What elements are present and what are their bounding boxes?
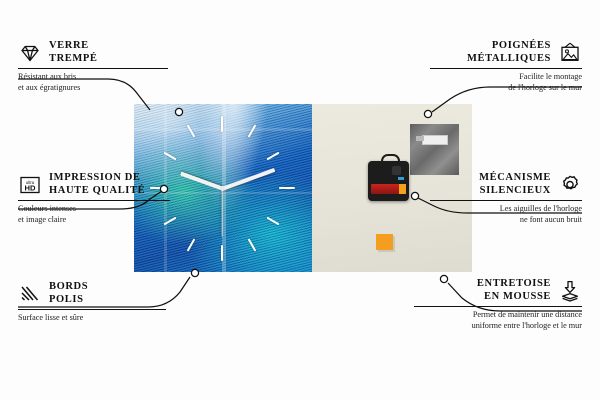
gear-icon [558, 173, 582, 197]
callout-rule [18, 200, 170, 201]
glass-glare [188, 104, 270, 217]
svg-text:HD: HD [25, 183, 36, 192]
hanger-slot [422, 135, 448, 145]
callout-rule [18, 309, 166, 310]
clock-tick [266, 217, 279, 226]
callout-rule [18, 68, 168, 69]
polished-edges-icon [18, 282, 42, 306]
diamond-icon [18, 41, 42, 65]
callout-subtitle: Couleurs intenses et image claire [18, 204, 193, 225]
clock-tick [248, 238, 257, 251]
callout-subtitle: Permet de maintenir une distance uniform… [404, 310, 582, 331]
callout-subtitle: Facilite le montage de l'horloge sur le … [420, 72, 582, 93]
clock-tick [187, 124, 196, 137]
foam-spacer [376, 234, 393, 250]
callout-title: BORDS POLIS [49, 281, 88, 306]
battery [371, 184, 406, 194]
infographic-canvas: VERRE TREMPÉ Résistant aux bris et aux é… [0, 0, 600, 400]
clock-hub [220, 186, 225, 191]
callout-title: IMPRESSION DE HAUTE QUALITÉ [49, 172, 145, 197]
clock-tick [221, 116, 223, 132]
callout-entretoise-en-mousse: ENTRETOISE EN MOUSSE Permet de maintenir… [404, 278, 582, 331]
clock-tick [279, 187, 295, 189]
movement-hook [381, 154, 400, 166]
metal-hanger-plate [410, 124, 459, 175]
callout-title: POIGNÉES MÉTALLIQUES [467, 40, 551, 65]
callout-subtitle: Résistant aux bris et aux égratignures [18, 72, 183, 93]
callout-title: ENTRETOISE EN MOUSSE [477, 278, 551, 303]
callout-rule [430, 200, 582, 201]
callout-title: MÉCANISME SILENCIEUX [479, 172, 551, 197]
callout-mecanisme-silencieux: MÉCANISME SILENCIEUX Les aiguilles de l'… [420, 172, 582, 225]
callout-subtitle: Surface lisse et sûre [18, 313, 183, 324]
battery-positive-terminal [399, 184, 406, 194]
callout-rule [430, 68, 582, 69]
clock-movement [368, 161, 409, 201]
callout-title: VERRE TREMPÉ [49, 40, 98, 65]
hanging-frame-icon [558, 41, 582, 65]
clock-tick [221, 245, 223, 261]
callout-poignees-metalliques: POIGNÉES MÉTALLIQUES Facilite le montage… [420, 40, 582, 93]
clock-tick [187, 238, 196, 251]
movement-indicator [398, 177, 404, 180]
callout-impression-haute-qualite: ultra HD IMPRESSION DE HAUTE QUALITÉ Cou… [18, 172, 193, 225]
movement-dial [392, 166, 401, 175]
second-hand [221, 189, 222, 237]
ultra-hd-icon: ultra HD [18, 173, 42, 197]
arrow-down-stack-icon [558, 279, 582, 303]
callout-verre-trempe: VERRE TREMPÉ Résistant aux bris et aux é… [18, 40, 183, 93]
callout-bords-polis: BORDS POLIS Surface lisse et sûre [18, 281, 183, 324]
hanger-slot-secondary [416, 136, 424, 141]
callout-subtitle: Les aiguilles de l'horloge ne font aucun… [420, 204, 582, 225]
callout-rule [414, 306, 582, 307]
clock-tick [266, 152, 279, 161]
